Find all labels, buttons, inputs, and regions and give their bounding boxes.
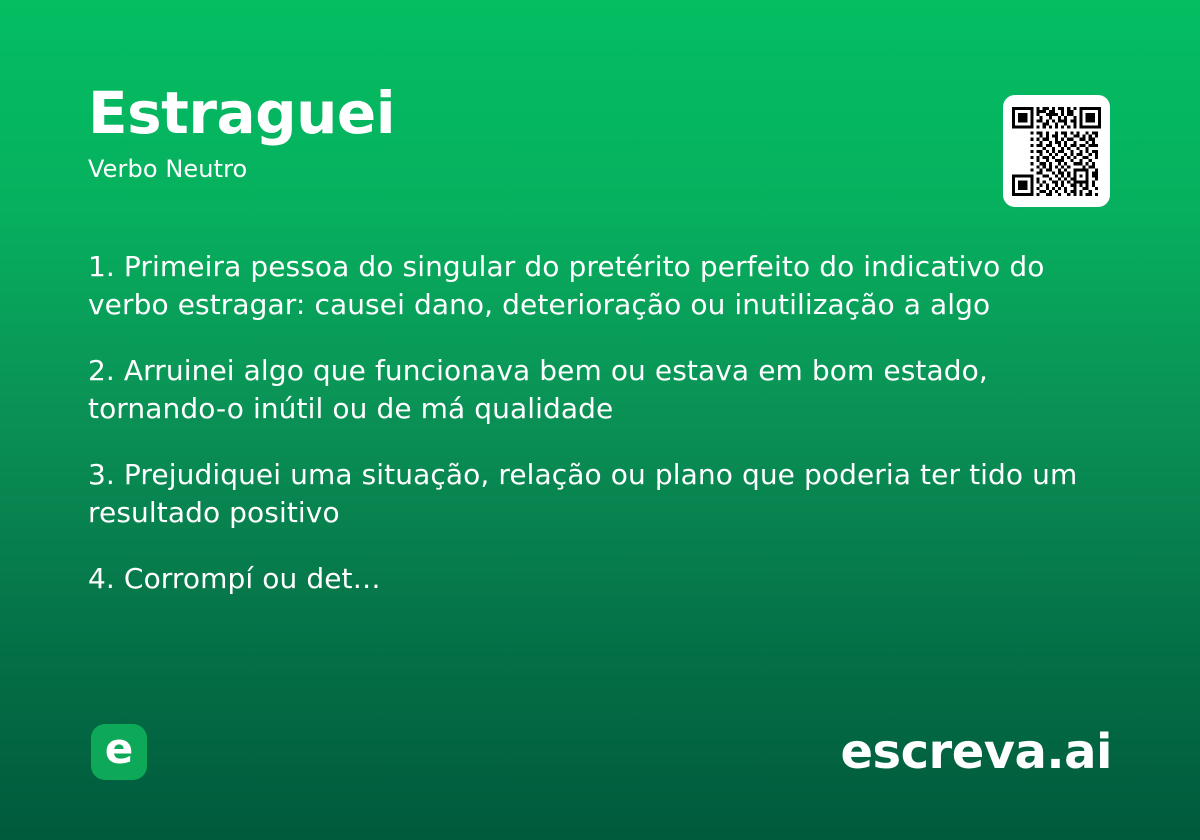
card-header: Estraguei Verbo Neutro — [88, 82, 968, 184]
qr-code-panel[interactable] — [1003, 95, 1110, 207]
qr-code-icon — [1012, 107, 1101, 196]
list-item: 3. Prejudiquei uma situação, relação ou … — [88, 456, 1100, 532]
list-item: 4. Corrompí ou det… — [88, 560, 1100, 598]
definition-list: 1. Primeira pessoa do singular do pretér… — [88, 248, 1100, 598]
page-title: Estraguei — [88, 82, 968, 144]
brand-logo-letter: e — [105, 728, 134, 770]
card-footer: e escreva.ai — [0, 724, 1200, 780]
brand-logo-icon: e — [91, 724, 147, 780]
word-definition-card: Estraguei Verbo Neutro — [0, 0, 1200, 840]
list-item: 2. Arruinei algo que funcionava bem ou e… — [88, 352, 1100, 428]
list-item: 1. Primeira pessoa do singular do pretér… — [88, 248, 1100, 324]
word-class-label: Verbo Neutro — [88, 144, 968, 184]
brand-name: escreva.ai — [840, 726, 1112, 778]
